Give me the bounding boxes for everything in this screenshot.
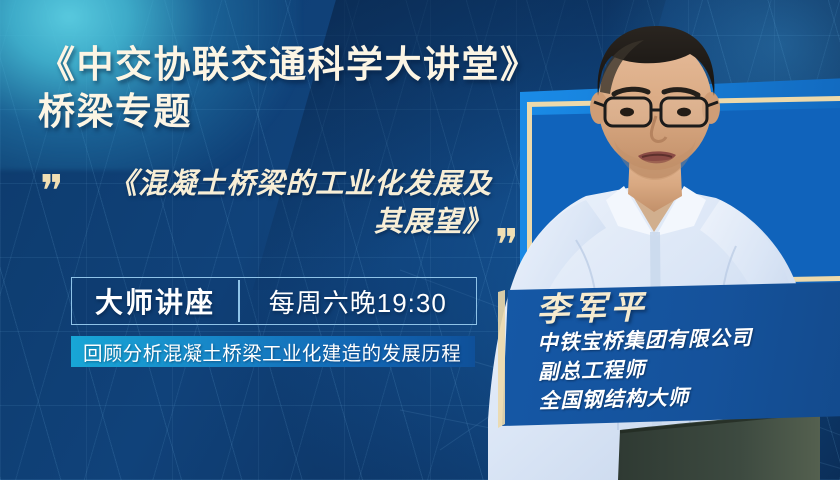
title-line-1: 《中交协联交通科学大讲堂》	[38, 44, 539, 87]
page-title: 《中交协联交通科学大讲堂》 桥梁专题	[38, 44, 539, 134]
schedule-time-cell: 每周六晚19:30	[240, 278, 476, 324]
quote-close-icon: ❞	[495, 224, 519, 268]
lecture-banner: 李军平 中铁宝桥集团有限公司 副总工程师 全国钢结构大师 《中交协联交通科学大讲…	[0, 0, 840, 480]
lecture-topic-text: 《混凝土桥梁的工业化发展及其展望》	[92, 166, 492, 242]
title-line-2: 桥梁专题	[38, 91, 539, 134]
subtitle-bar: 回顾分析混凝土桥梁工业化建造的发展历程	[71, 336, 475, 367]
schedule-box: 大师讲座 每周六晚19:30	[71, 277, 477, 325]
schedule-label: 大师讲座	[95, 281, 215, 321]
schedule-time: 每周六晚19:30	[269, 283, 447, 320]
lecture-topic-quote: ❞ 《混凝土桥梁的工业化发展及其展望》 ❞	[40, 166, 520, 242]
schedule-label-cell: 大师讲座	[72, 278, 238, 324]
subtitle-text: 回顾分析混凝土桥梁工业化建造的发展历程	[83, 337, 461, 366]
quote-open-icon: ❞	[40, 170, 64, 214]
speaker-info: 李军平 中铁宝桥集团有限公司 副总工程师 全国钢结构大师	[536, 284, 839, 416]
